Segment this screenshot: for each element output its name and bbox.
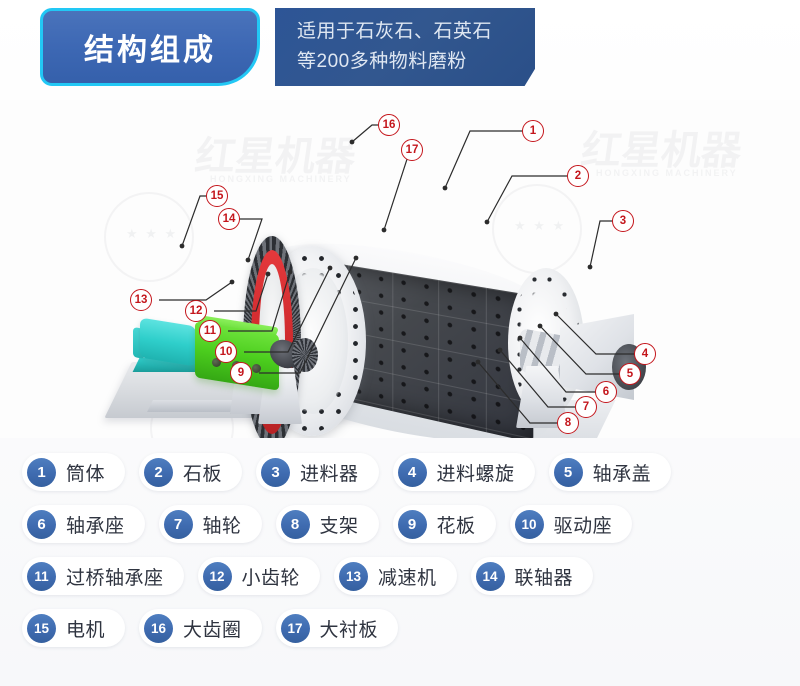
legend-row-1: 1 筒体 2 石板 3 进料器 4 进料螺旋 5 轴承盖 [22, 446, 778, 498]
legend-chip-number: 2 [144, 458, 173, 487]
callout-marker-3[interactable]: 3 [612, 210, 634, 232]
legend-chip-14[interactable]: 14 联轴器 [471, 557, 594, 595]
page-root: 适用于石灰石、石英石 等200多种物料磨粉 结构组成 ★ ★ ★ 红星机器 HO… [0, 0, 800, 686]
header-banner-line-1: 适用于石灰石、石英石 [297, 17, 535, 47]
callout-marker-4[interactable]: 4 [634, 343, 656, 365]
legend-chip-number: 4 [398, 458, 427, 487]
legend-chip-number: 15 [27, 614, 56, 643]
legend-row-2: 6 轴承座 7 轴轮 8 支架 9 花板 10 驱动座 [22, 498, 778, 550]
legend-chip-2[interactable]: 2 石板 [139, 453, 242, 491]
legend-chip-15[interactable]: 15 电机 [22, 609, 125, 647]
legend-chip-label: 轴承盖 [593, 459, 652, 486]
header-banner: 适用于石灰石、石英石 等200多种物料磨粉 [275, 8, 535, 86]
legend-chip-label: 大衬板 [320, 615, 379, 642]
legend-chip-number: 12 [203, 562, 232, 591]
pinion-gear [292, 338, 318, 372]
legend-chip-number: 14 [476, 562, 505, 591]
watermark-star-right: ★ ★ ★ [514, 218, 566, 234]
legend-chip-12[interactable]: 12 小齿轮 [198, 557, 321, 595]
legend-chip-5[interactable]: 5 轴承盖 [549, 453, 672, 491]
legend-chip-1[interactable]: 1 筒体 [22, 453, 125, 491]
legend-chip-3[interactable]: 3 进料器 [256, 453, 379, 491]
callout-marker-7[interactable]: 7 [575, 396, 597, 418]
callout-marker-5[interactable]: 5 [619, 363, 641, 385]
callout-marker-14[interactable]: 14 [218, 208, 240, 230]
callout-marker-10[interactable]: 10 [215, 341, 237, 363]
legend-chip-13[interactable]: 13 减速机 [334, 557, 457, 595]
callout-marker-9[interactable]: 9 [230, 362, 252, 384]
legend-chip-label: 小齿轮 [242, 563, 301, 590]
watermark-star-left: ★ ★ ★ [126, 226, 178, 242]
legend-chip-9[interactable]: 9 花板 [393, 505, 496, 543]
callout-marker-16[interactable]: 16 [378, 114, 400, 136]
page-header: 适用于石灰石、石英石 等200多种物料磨粉 结构组成 [0, 0, 800, 100]
legend-chip-number: 10 [515, 510, 544, 539]
legend-chip-number: 17 [281, 614, 310, 643]
legend-chip-label: 电机 [66, 615, 105, 642]
legend-chip-label: 石板 [183, 459, 222, 486]
legend-chip-number: 1 [27, 458, 56, 487]
legend-chip-label: 减速机 [378, 563, 437, 590]
watermark-text-left: 红星机器 [192, 124, 360, 182]
legend-row-4: 15 电机 16 大齿圈 17 大衬板 [22, 602, 778, 654]
legend-chip-8[interactable]: 8 支架 [276, 505, 379, 543]
callout-marker-15[interactable]: 15 [206, 185, 228, 207]
reducer-bolt-3 [252, 364, 261, 373]
legend-chip-17[interactable]: 17 大衬板 [276, 609, 399, 647]
callout-marker-1[interactable]: 1 [522, 120, 544, 142]
callout-marker-13[interactable]: 13 [130, 289, 152, 311]
legend-chip-number: 5 [554, 458, 583, 487]
legend-row-3: 11 过桥轴承座 12 小齿轮 13 减速机 14 联轴器 [22, 550, 778, 602]
legend-chip-number: 16 [144, 614, 173, 643]
callout-marker-11[interactable]: 11 [199, 320, 221, 342]
callout-marker-12[interactable]: 12 [185, 300, 207, 322]
legend-chip-number: 8 [281, 510, 310, 539]
legend-chip-7[interactable]: 7 轴轮 [159, 505, 262, 543]
callout-marker-8[interactable]: 8 [557, 412, 579, 434]
header-title-tab: 结构组成 [40, 8, 260, 86]
legend-chip-label: 筒体 [66, 459, 105, 486]
legend-chip-number: 9 [398, 510, 427, 539]
legend-panel: 1 筒体 2 石板 3 进料器 4 进料螺旋 5 轴承盖 6 [0, 438, 800, 686]
legend-chip-number: 3 [261, 458, 290, 487]
diagram-stage: ★ ★ ★ 红星机器 HONGXING MACHINERY ★ ★ ★ 红星机器… [0, 100, 800, 438]
legend-chip-number: 13 [339, 562, 368, 591]
legend-chip-label: 轴轮 [203, 511, 242, 538]
legend-chip-label: 进料器 [300, 459, 359, 486]
callout-marker-2[interactable]: 2 [567, 165, 589, 187]
legend-chip-label: 过桥轴承座 [66, 563, 164, 590]
legend-chip-label: 花板 [437, 511, 476, 538]
legend-chip-number: 11 [27, 562, 56, 591]
legend-chip-4[interactable]: 4 进料螺旋 [393, 453, 535, 491]
watermark-sub-right: HONGXING MACHINERY [596, 168, 738, 178]
legend-chip-label: 支架 [320, 511, 359, 538]
callout-marker-6[interactable]: 6 [595, 381, 617, 403]
legend-chip-label: 进料螺旋 [437, 459, 515, 486]
page-title: 结构组成 [84, 25, 216, 69]
header-banner-line-2: 等200多种物料磨粉 [297, 47, 535, 77]
legend-chip-11[interactable]: 11 过桥轴承座 [22, 557, 184, 595]
legend-chip-label: 轴承座 [66, 511, 125, 538]
legend-chip-16[interactable]: 16 大齿圈 [139, 609, 262, 647]
legend-chip-label: 联轴器 [515, 563, 574, 590]
watermark-sub-left: HONGXING MACHINERY [210, 174, 352, 184]
legend-chip-10[interactable]: 10 驱动座 [510, 505, 633, 543]
legend-chip-6[interactable]: 6 轴承座 [22, 505, 145, 543]
legend-chip-number: 6 [27, 510, 56, 539]
legend-chip-label: 大齿圈 [183, 615, 242, 642]
watermark-text-right: 红星机器 [578, 118, 746, 176]
callout-marker-17[interactable]: 17 [401, 139, 423, 161]
legend-chip-label: 驱动座 [554, 511, 613, 538]
legend-chip-number: 7 [164, 510, 193, 539]
